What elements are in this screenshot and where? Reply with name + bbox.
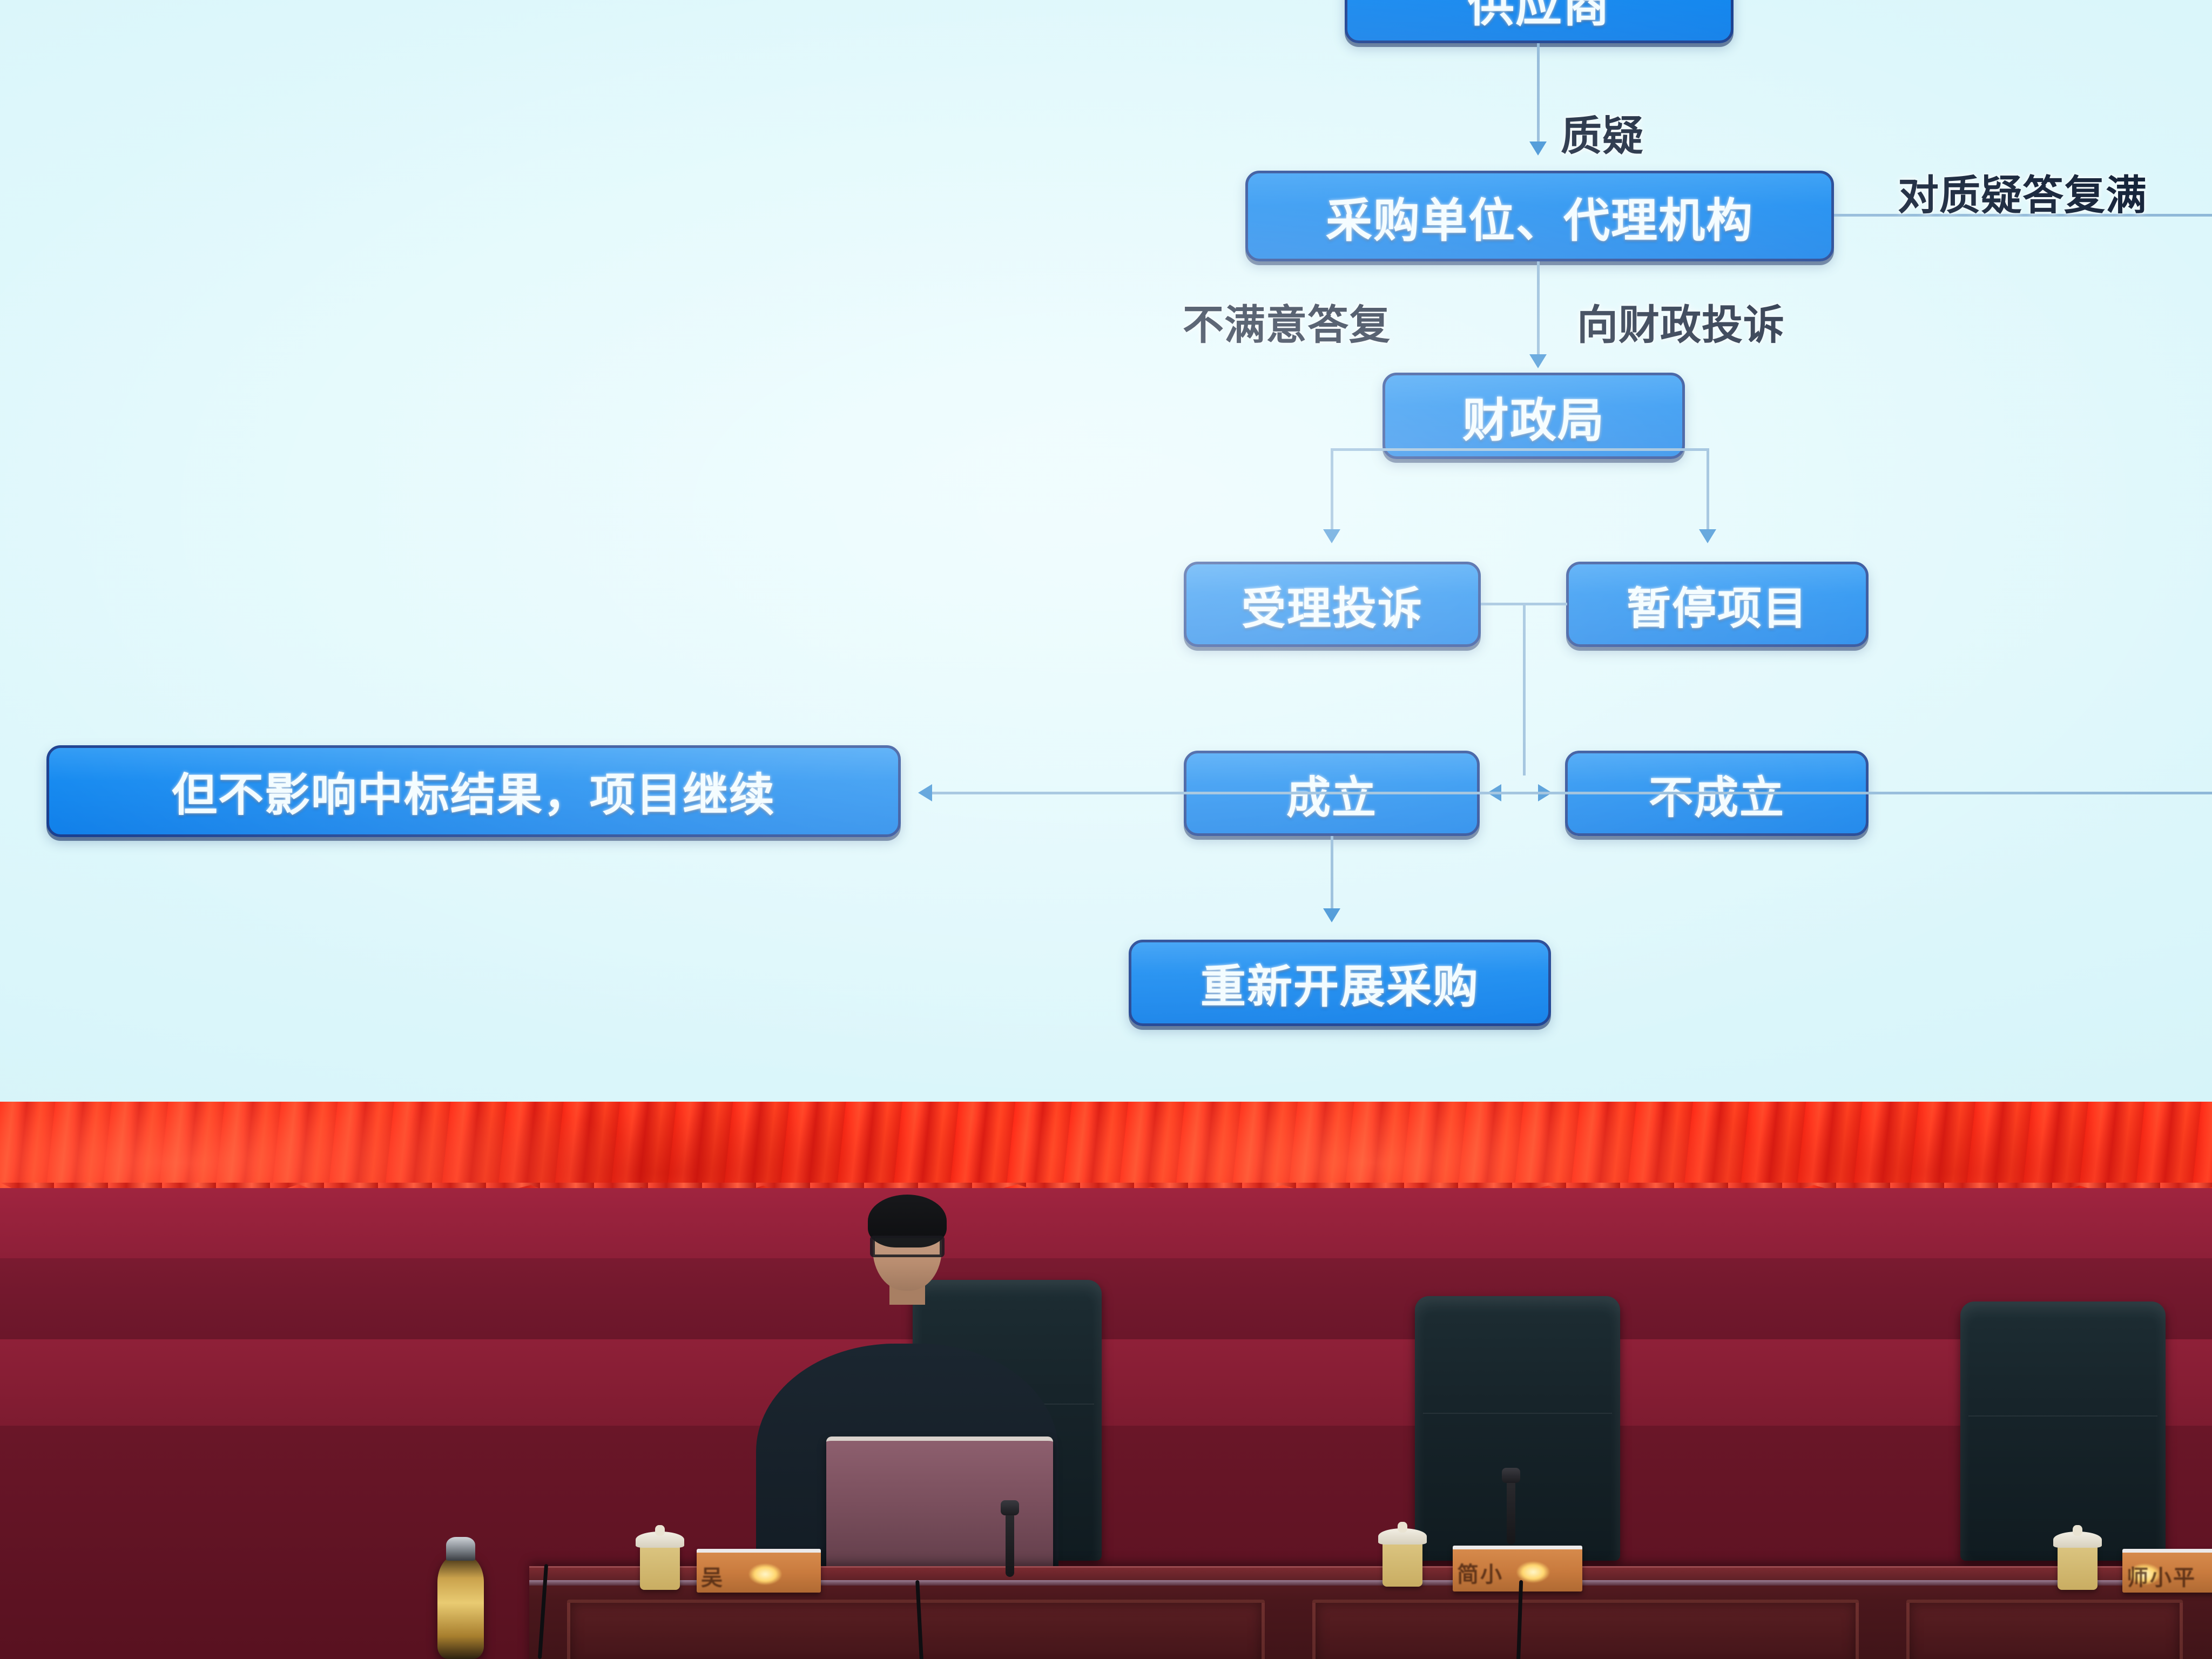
- arrow-established-to-restart: [1323, 908, 1340, 922]
- flow-box-supplier-label: 供应商: [1468, 0, 1610, 35]
- chair-seat-3: [1960, 1301, 2166, 1561]
- edge-label-query: 质疑: [1561, 103, 1644, 162]
- connector-agency-to-finance: [1537, 261, 1540, 363]
- stage-step-lower: [0, 1339, 2212, 1426]
- flow-box-accept-complaint: 受理投诉: [1184, 562, 1481, 647]
- gold-vase-neck: [446, 1537, 475, 1561]
- microphone-head-2: [1502, 1468, 1520, 1483]
- auditorium-stage: 吴 简小 师小平: [0, 1102, 2212, 1659]
- edge-label-unsatisfied-reply: 不满意答复: [1183, 292, 1391, 351]
- laptop-screen: [826, 1437, 1053, 1581]
- red-drape-fabric: [0, 1102, 2212, 1193]
- nameplate-seat-3-text: 师小平: [2127, 1560, 2212, 1590]
- flow-box-purchasing-agency-label: 采购单位、代理机构: [1326, 183, 1754, 250]
- flow-box-finance-bureau: 财政局: [1382, 373, 1685, 459]
- flow-box-suspend-project-label: 暂停项目: [1627, 572, 1808, 637]
- flow-box-restart-procurement-label: 重新开展采购: [1201, 950, 1479, 1016]
- teacup-knob-2: [1398, 1522, 1407, 1533]
- projection-screen: 供应商 质疑 采购单位、代理机构 对质疑答复满 不满意答复 向财政投诉 财政局: [0, 0, 2212, 1134]
- flow-box-restart-procurement: 重新开展采购: [1129, 940, 1551, 1026]
- nameplate-seat-3: 师小平: [2122, 1549, 2212, 1593]
- gold-vase-ornament: [437, 1555, 484, 1659]
- connector-down-to-outcome: [1523, 603, 1526, 775]
- teacup-3: [2058, 1543, 2098, 1590]
- conference-room-photo: 供应商 质疑 采购单位、代理机构 对质疑答复满 不满意答复 向财政投诉 财政局: [0, 0, 2212, 1659]
- teacup-1: [640, 1543, 680, 1590]
- microphone-seat-1: [1006, 1512, 1014, 1577]
- connector-finance-to-accept: [1331, 448, 1333, 539]
- flow-box-purchasing-agency: 采购单位、代理机构: [1245, 171, 1834, 261]
- connector-notestablished-to-result: [930, 792, 1869, 794]
- connector-finance-split: [1331, 448, 1709, 451]
- desk-panel-2: [1312, 1600, 1859, 1659]
- microphone-head-1: [1001, 1500, 1019, 1515]
- connector-established-to-restart: [1331, 836, 1333, 916]
- flow-box-accept-complaint-label: 受理投诉: [1242, 572, 1423, 637]
- edge-label-satisfied-reply: 对质疑答复满: [1898, 162, 2147, 221]
- arrow-agency-to-finance: [1529, 354, 1547, 368]
- nameplate-seat-2: 简小: [1453, 1546, 1582, 1591]
- teacup-2: [1382, 1540, 1422, 1587]
- arrow-to-result-unaffected: [918, 784, 932, 801]
- flow-box-result-unaffected: 但不影响中标结果，项目继续: [46, 745, 901, 837]
- connector-finance-to-suspend: [1707, 448, 1709, 539]
- desk-panel-3: [1906, 1600, 2183, 1659]
- chair-seat-2: [1415, 1296, 1620, 1561]
- nameplate-seat-1: 吴: [697, 1549, 821, 1593]
- nameplate-seat-2-text: 简小: [1457, 1557, 1578, 1589]
- stage-step-upper: [0, 1188, 2212, 1258]
- arrow-finance-to-suspend: [1699, 529, 1716, 543]
- flow-box-result-unaffected-label: 但不影响中标结果，项目继续: [172, 759, 775, 824]
- nameplate-seat-1-text: 吴: [701, 1560, 817, 1590]
- flow-box-finance-bureau-label: 财政局: [1462, 382, 1605, 450]
- arrow-supplier-to-agency: [1529, 141, 1547, 156]
- microphone-seat-2: [1507, 1480, 1515, 1545]
- flow-box-supplier: 供应商: [1345, 0, 1734, 43]
- arrow-finance-to-accept: [1323, 529, 1340, 543]
- connector-supplier-to-agency: [1537, 43, 1540, 150]
- desk-panel-1: [567, 1600, 1265, 1659]
- teacup-knob-1: [655, 1525, 665, 1536]
- stage-step-middle: [0, 1258, 2212, 1339]
- edge-label-complain-to-finance: 向财政投诉: [1577, 292, 1785, 351]
- flow-box-suspend-project: 暂停项目: [1566, 562, 1869, 647]
- teacup-knob-3: [2073, 1525, 2082, 1536]
- screen-glare: [0, 0, 2212, 1134]
- glasses-icon: [870, 1236, 945, 1257]
- connector-notestablished-right: [1869, 792, 2212, 794]
